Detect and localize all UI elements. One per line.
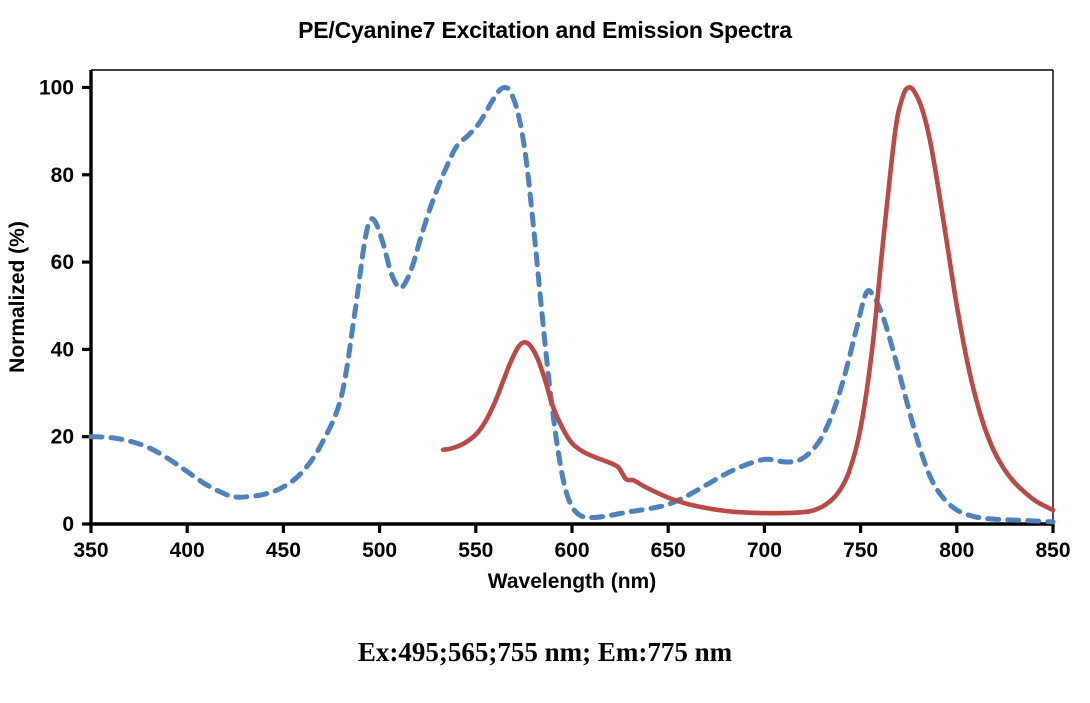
y-tick-label: 80 (51, 164, 74, 187)
x-tick-label: 750 (843, 539, 878, 562)
x-axis-title: Wavelength (nm) (488, 570, 656, 593)
x-tick-label: 350 (73, 539, 108, 562)
spectra-caption: Ex:495;565;755 nm; Em:775 nm (0, 637, 1090, 668)
y-tick-label: 40 (51, 338, 74, 361)
x-tick-label: 400 (170, 539, 205, 562)
series-emission-curve (443, 87, 1053, 513)
series-excitation-curve (91, 87, 1053, 521)
figure-container: PE/Cyanine7 Excitation and Emission Spec… (0, 0, 1090, 703)
x-tick-label: 500 (362, 539, 397, 562)
spectra-plot: 3504004505005506006507007508008500204060… (0, 0, 1090, 703)
x-tick-label: 800 (939, 539, 974, 562)
x-tick-label: 450 (266, 539, 301, 562)
series-layer (91, 87, 1053, 522)
x-tick-label: 850 (1035, 539, 1070, 562)
axes-layer: 3504004505005506006507007508008500204060… (6, 70, 1071, 593)
y-tick-label: 100 (39, 76, 74, 99)
y-tick-label: 60 (51, 251, 74, 274)
x-tick-label: 550 (458, 539, 493, 562)
y-tick-label: 20 (51, 426, 74, 449)
x-tick-label: 700 (747, 539, 782, 562)
x-tick-label: 600 (554, 539, 589, 562)
y-tick-label: 0 (62, 513, 74, 536)
x-tick-label: 650 (651, 539, 686, 562)
y-axis-title: Normalized (%) (6, 221, 29, 373)
